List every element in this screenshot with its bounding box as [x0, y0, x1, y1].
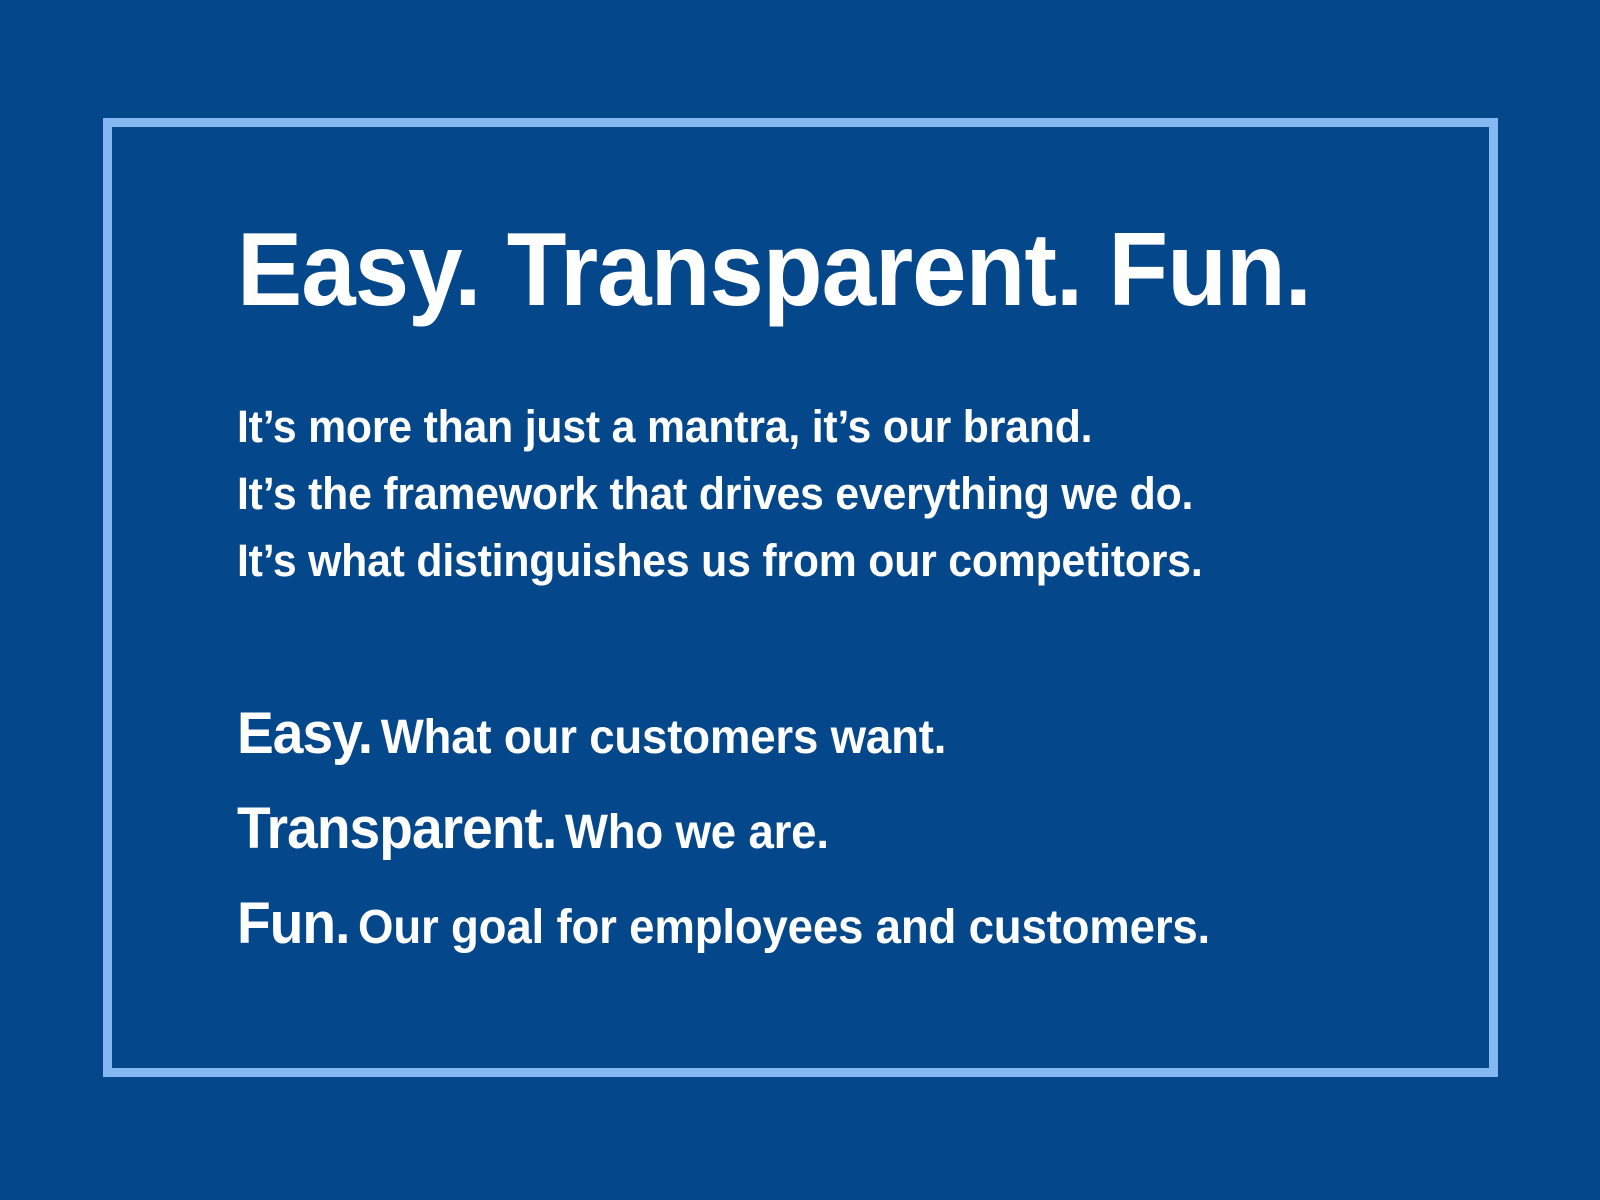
definition-term-fun: Fun.: [237, 891, 349, 956]
definition-item-fun: Fun.Our goal for employees and customers…: [237, 884, 1358, 979]
definition-term-easy: Easy.: [237, 701, 372, 766]
intro-paragraph: It’s more than just a mantra, it’s our b…: [237, 393, 1417, 594]
intro-line-3: It’s what distinguishes us from our comp…: [237, 527, 1358, 594]
intro-line-2: It’s the framework that drives everythin…: [237, 460, 1358, 527]
intro-line-1: It’s more than just a mantra, it’s our b…: [237, 393, 1358, 460]
definition-description-transparent: Who we are.: [556, 806, 829, 859]
slide-content: Easy. Transparent. Fun. It’s more than j…: [237, 215, 1417, 979]
definition-item-easy: Easy.What our customers want.: [237, 694, 1358, 789]
definition-term-transparent: Transparent.: [237, 796, 556, 861]
definition-description-easy: What our customers want.: [372, 711, 946, 764]
definition-description-fun: Our goal for employees and customers.: [349, 901, 1210, 954]
page-title: Easy. Transparent. Fun.: [237, 215, 1346, 325]
definition-list: Easy.What our customers want. Transparen…: [237, 694, 1417, 979]
slide-canvas: Easy. Transparent. Fun. It’s more than j…: [0, 0, 1600, 1200]
definition-item-transparent: Transparent.Who we are.: [237, 789, 1358, 884]
